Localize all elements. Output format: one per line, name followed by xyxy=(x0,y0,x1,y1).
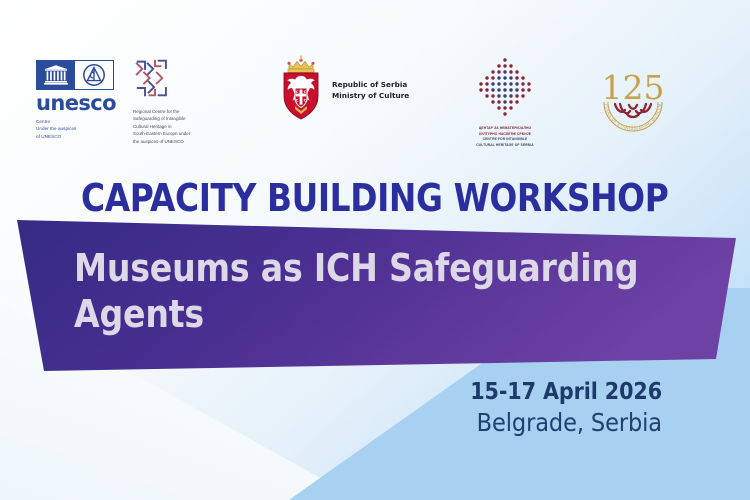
unesco-caption-line: of UNESCO xyxy=(36,133,126,140)
regional-centre-caption-line: South-Eastern Europe under xyxy=(133,130,217,137)
logo-republic-of-serbia: C C C C Republic of Serbia Ministry of C… xyxy=(276,54,461,122)
logo-125-anniversary: 125 YEARS OF ETHNOGRAPHIC MUSEUM xyxy=(588,58,678,139)
page-title: CAPACITY BUILDING WORKSHOP xyxy=(81,176,668,220)
serbia-caption-line: Republic of Serbia xyxy=(332,79,409,90)
logo-centre-ich-serbia: ЦЕНТАР ЗА НЕМАТЕРИЈАЛНО КУЛТУРНО НАСЛЕЂЕ… xyxy=(455,56,555,149)
unesco-caption-line: Under the auspices xyxy=(36,125,126,132)
unesco-emblem-icon xyxy=(36,60,114,90)
ich-serbia-diamond-icon xyxy=(472,56,538,118)
ich-serbia-caption-line: CULTURAL HERITAGE OF SERBIA xyxy=(455,143,555,149)
ich-serbia-caption: ЦЕНТАР ЗА НЕМАТЕРИЈАЛНО КУЛТУРНО НАСЛЕЂЕ… xyxy=(455,126,555,149)
anniversary-125-icon: 125 YEARS OF ETHNOGRAPHIC MUSEUM xyxy=(594,58,672,134)
logo-regional-centre: Regional Centre for the Safeguarding of … xyxy=(133,58,219,145)
event-details: 15-17 April 2026 Belgrade, Serbia xyxy=(470,378,662,438)
svg-text:C: C xyxy=(304,99,307,103)
banner-title: Museums as ICH Safeguarding Agents xyxy=(74,245,695,338)
regional-centre-caption-line: Regional Centre for the xyxy=(133,108,217,115)
unesco-caption-line: Centre xyxy=(36,118,126,125)
logo-unesco: unesco Centre Under the auspices of UNES… xyxy=(36,60,126,140)
regional-centre-caption-line: the auspices of UNESCO xyxy=(133,138,217,145)
anniversary-number: 125 xyxy=(602,68,665,107)
serbian-coat-of-arms-icon: C C C C xyxy=(276,54,326,122)
regional-centre-caption-line: Safeguarding of Intangible xyxy=(133,115,217,122)
regional-centre-caption: Regional Centre for the Safeguarding of … xyxy=(133,108,217,145)
partner-logo-strip: unesco Centre Under the auspices of UNES… xyxy=(0,52,750,152)
banner: Museums as ICH Safeguarding Agents xyxy=(0,219,750,371)
unesco-caption: Centre Under the auspices of UNESCO xyxy=(36,118,126,140)
event-dates: 15-17 April 2026 xyxy=(470,378,662,407)
unesco-wordmark: unesco xyxy=(36,93,126,114)
svg-text:C: C xyxy=(304,90,307,94)
regional-centre-caption-line: Cultural Heritage in xyxy=(133,123,217,130)
workshop-poster: unesco Centre Under the auspices of UNES… xyxy=(0,0,750,500)
serbia-caption-line: Ministry of Culture xyxy=(332,90,409,101)
svg-text:C: C xyxy=(296,90,299,94)
regional-centre-emblem-icon xyxy=(133,58,177,98)
serbia-ministry-caption: Republic of Serbia Ministry of Culture xyxy=(332,79,409,102)
event-location: Belgrade, Serbia xyxy=(470,408,662,438)
svg-text:C: C xyxy=(296,99,299,103)
